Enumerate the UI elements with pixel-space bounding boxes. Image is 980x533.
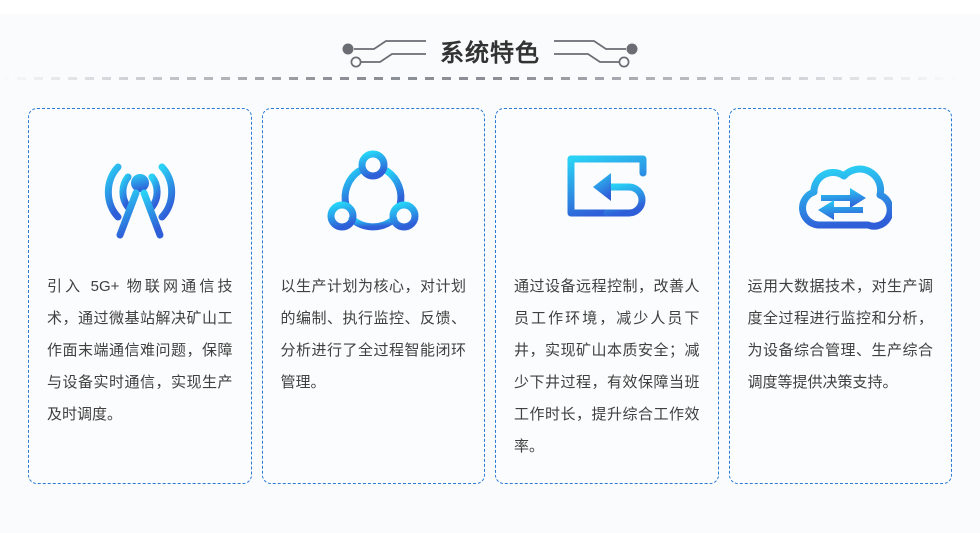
circuit-line-left-ornament bbox=[340, 37, 426, 71]
feature-card-text: 通过设备远程控制，改善人员工作环境，减少人员下井，实现矿山本质安全；减少下井过程… bbox=[514, 271, 700, 463]
dashed-divider-line bbox=[0, 77, 980, 80]
remote-control-monitor-icon bbox=[555, 143, 659, 247]
section-title: 系统特色 bbox=[440, 42, 540, 66]
feature-card-1[interactable]: 引入 5G+ 物联网通信技术，通过微基站解决矿山工作面末端通信难问题，保障与设备… bbox=[28, 108, 252, 484]
cloud-data-exchange-icon bbox=[788, 143, 892, 247]
feature-card-text: 引入 5G+ 物联网通信技术，通过微基站解决矿山工作面末端通信难问题，保障与设备… bbox=[47, 271, 233, 431]
closed-loop-cycle-icon bbox=[321, 143, 425, 247]
feature-card-list: 引入 5G+ 物联网通信技术，通过微基站解决矿山工作面末端通信难问题，保障与设备… bbox=[28, 108, 952, 484]
feature-card-2[interactable]: 以生产计划为核心，对计划的编制、执行监控、反馈、分析进行了全过程智能闭环管理。 bbox=[262, 108, 486, 484]
feature-card-3[interactable]: 通过设备远程控制，改善人员工作环境，减少人员下井，实现矿山本质安全；减少下井过程… bbox=[495, 108, 719, 484]
5g-signal-tower-icon bbox=[88, 143, 192, 247]
circuit-line-right-ornament bbox=[554, 37, 640, 71]
feature-card-text: 以生产计划为核心，对计划的编制、执行监控、反馈、分析进行了全过程智能闭环管理。 bbox=[281, 271, 467, 399]
feature-card-text: 运用大数据技术，对生产调度全过程进行监控和分析，为设备综合管理、生产综合调度等提… bbox=[748, 271, 934, 399]
section-header: 系统特色 bbox=[0, 28, 980, 80]
page-root: 系统特色 bbox=[0, 0, 980, 533]
feature-card-4[interactable]: 运用大数据技术，对生产调度全过程进行监控和分析，为设备综合管理、生产综合调度等提… bbox=[729, 108, 953, 484]
dashed-divider bbox=[0, 77, 980, 80]
